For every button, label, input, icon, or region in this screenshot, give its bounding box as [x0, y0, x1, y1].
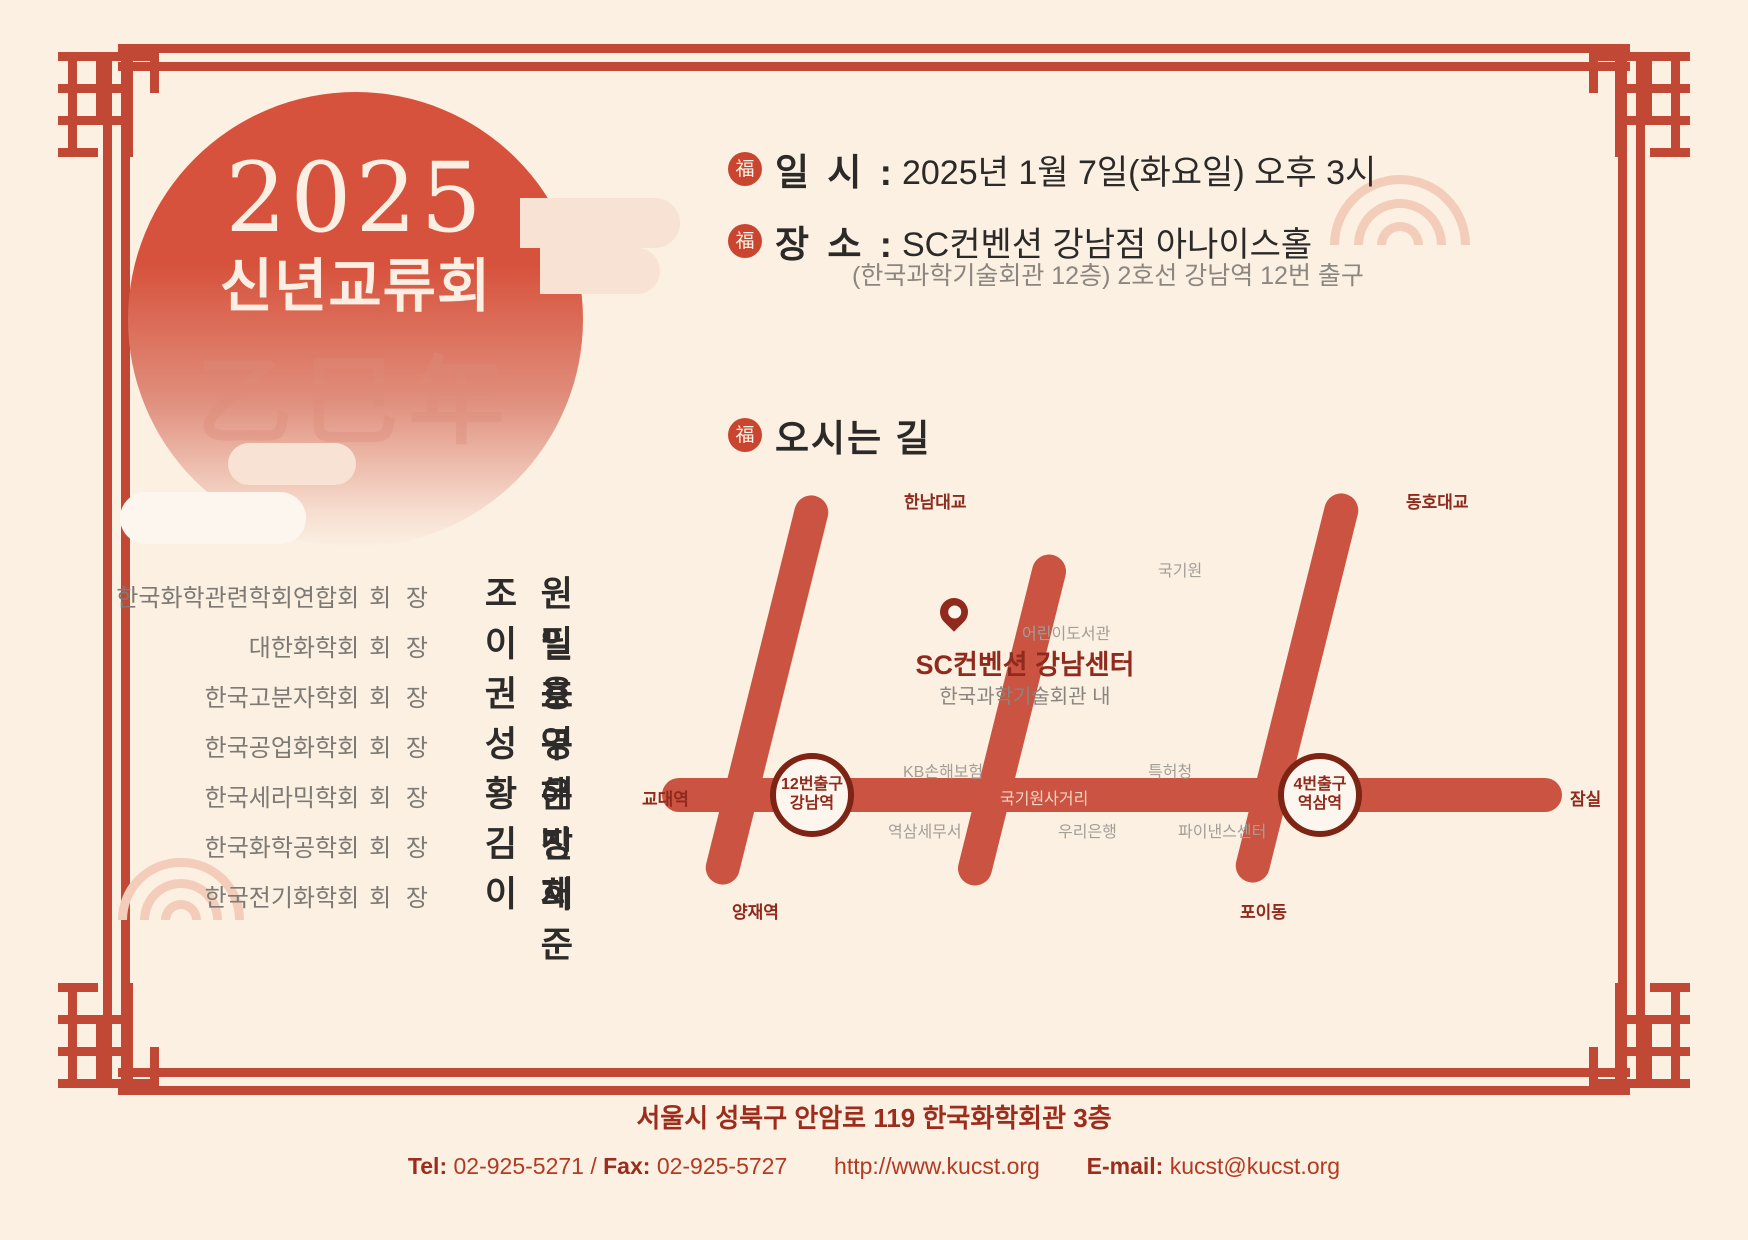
map-landmark-gukgiwon: 국기원 [1158, 557, 1202, 581]
directions-title-text: 오시는 길 [775, 408, 931, 462]
location-map: 한남대교 동호대교 교대역 잠실 양재역 포이동 국기원 어린이도서관 KB손해… [640, 470, 1640, 940]
officer-org: 한국세라믹학회 [205, 778, 360, 813]
footer-separator: / [590, 1153, 596, 1179]
event-venue-subtext: (한국과학기술회관 12층) 2호선 강남역 12번 출구 [852, 256, 1364, 292]
list-item: 한국세라믹학회 회 장 황 해 진 [110, 766, 580, 816]
road-diagonal-2 [954, 551, 1069, 889]
fortune-badge-icon: 福 [728, 224, 762, 258]
map-landmark-patent-office: 특허청 [1148, 758, 1192, 782]
officer-org: 대한화학회 [249, 628, 359, 663]
map-endpoint-hannam-bridge: 한남대교 [904, 488, 967, 513]
footer-address: 서울시 성북구 안암로 119 한국화학회관 3층 [0, 1098, 1748, 1135]
list-item: 한국화학공학회 회 장 김 방 희 [110, 816, 580, 866]
footer-fax-value: 02-925-5727 [657, 1153, 787, 1179]
event-date-value: 2025년 1월 7일(화요일) 오후 3시 [902, 145, 1376, 194]
list-item: 한국고분자학회 회 장 권 용 구 [110, 666, 580, 716]
venue-marker-detail: 한국과학기술회관 내 [875, 680, 1175, 709]
hero-year-text: 2025 [128, 150, 583, 246]
map-landmark-yeoksam-tax-office: 역삼세무서 [888, 818, 962, 842]
map-endpoint-poidong: 포이동 [1240, 898, 1287, 923]
list-item: 한국공업화학회 회 장 성 영 은 [110, 716, 580, 766]
footer: 서울시 성북구 안암로 119 한국화학회관 3층 Tel: 02-925-52… [0, 1098, 1748, 1180]
station-exit-label: 12번출구 [781, 776, 843, 795]
officer-org: 한국화학공학회 [205, 828, 360, 863]
station-gangnam: 12번출구 강남역 [770, 753, 854, 837]
venue-marker-name: SC컨벤션 강남센터 [875, 643, 1175, 682]
station-yeoksam: 4번출구 역삼역 [1278, 753, 1362, 837]
map-landmark-gukgiwon-intersection: 국기원사거리 [1000, 785, 1088, 809]
officer-role: 회 장 [369, 578, 432, 613]
map-endpoint-yangjae-station: 양재역 [732, 898, 779, 923]
map-endpoint-dongho-bridge: 동호대교 [1406, 488, 1469, 513]
officer-name: 이 재 준 [452, 866, 580, 968]
event-date-label: 일 시 : [775, 142, 896, 196]
directions-heading: 福 오시는 길 [728, 408, 931, 462]
footer-email-label: E-mail: [1087, 1153, 1164, 1179]
officer-role: 회 장 [369, 728, 432, 763]
fortune-badge-icon: 福 [728, 418, 762, 452]
footer-email-link[interactable]: kucst@kucst.org [1170, 1153, 1340, 1179]
map-landmark-finance-center: 파이낸스센터 [1178, 818, 1266, 842]
corner-lattice-top-left-icon [58, 42, 176, 160]
map-landmark-woori-bank: 우리은행 [1058, 818, 1117, 842]
poster-canvas: 乙巳年 2025 신년교류회 福 일 시 : 2025년 1월 7일(화요일) … [0, 0, 1748, 1240]
station-name-label: 역삼역 [1298, 795, 1342, 814]
cloud-shape-4 [120, 492, 306, 544]
footer-contact: Tel: 02-925-5271 / Fax: 02-925-5727 http… [0, 1153, 1748, 1180]
station-exit-label: 4번출구 [1293, 776, 1346, 795]
map-endpoint-gyodae-station: 교대역 [642, 785, 689, 810]
corner-lattice-top-right-icon [1572, 42, 1690, 160]
frame-bottom-line [118, 1086, 1630, 1095]
map-landmark-kb-insurance: KB손해보험 [903, 758, 983, 782]
footer-website-link[interactable]: http://www.kucst.org [834, 1153, 1040, 1179]
officer-org: 한국화학관련학회연합회 [116, 578, 359, 613]
officer-role: 회 장 [369, 628, 432, 663]
list-item: 한국화학관련학회연합회 회 장 조 원 일 [110, 566, 580, 616]
frame-top-line-inner [118, 62, 1630, 71]
corner-lattice-bottom-right-icon [1572, 980, 1690, 1098]
frame-top-line [118, 44, 1630, 53]
officer-role: 회 장 [369, 878, 432, 913]
officers-list: 한국화학관련학회연합회 회 장 조 원 일 대한화학회 회 장 이 필 호 한국… [110, 566, 580, 916]
station-name-label: 강남역 [790, 795, 834, 814]
officer-role: 회 장 [369, 678, 432, 713]
officer-org: 한국공업화학회 [205, 728, 360, 763]
officer-org: 한국고분자학회 [205, 678, 360, 713]
footer-fax-label: Fax: [603, 1153, 650, 1179]
list-item: 대한화학회 회 장 이 필 호 [110, 616, 580, 666]
footer-tel-label: Tel: [408, 1153, 447, 1179]
map-landmark-childrens-library: 어린이도서관 [1022, 620, 1110, 644]
list-item: 한국전기화학회 회 장 이 재 준 [110, 866, 580, 916]
fortune-badge-icon: 福 [728, 152, 762, 186]
officer-role: 회 장 [369, 828, 432, 863]
officer-org: 한국전기화학회 [205, 878, 360, 913]
event-date-row: 福 일 시 : 2025년 1월 7일(화요일) 오후 3시 [728, 142, 1376, 196]
officer-role: 회 장 [369, 778, 432, 813]
frame-bottom-line-inner [118, 1068, 1630, 1077]
hero-title-text: 신년교류회 [128, 255, 583, 319]
hero-hanja-text: 乙巳年 [128, 350, 583, 456]
map-endpoint-jamsil: 잠실 [1570, 785, 1601, 810]
footer-tel-value: 02-925-5271 [454, 1153, 584, 1179]
corner-lattice-bottom-left-icon [58, 980, 176, 1098]
location-pin-icon [934, 592, 974, 632]
